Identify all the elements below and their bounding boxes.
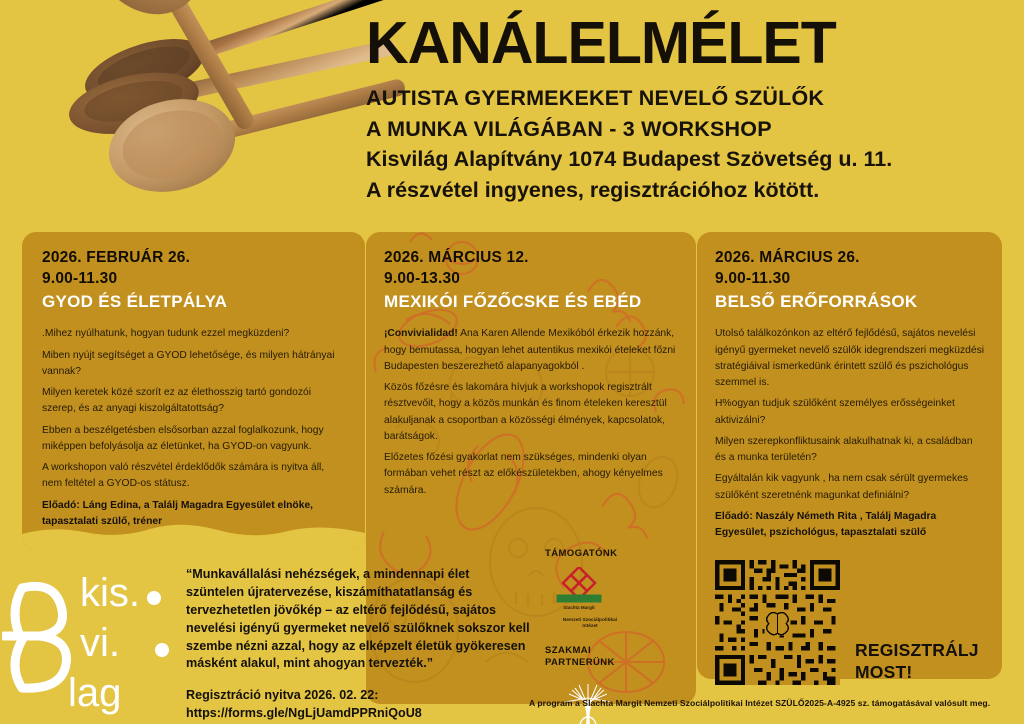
workshop-2-body: ¡Convivialidad! Ana Karen Allende Mexikó… <box>384 326 678 499</box>
participation-note: A részvétel ingyenes, regisztrációhoz kö… <box>366 175 1016 206</box>
workshop-2-paragraph: Közös főzésre és lakomára hívjuk a works… <box>384 380 678 445</box>
registration-url[interactable]: https://forms.gle/NgLjUamdPPRniQoU8 <box>186 705 531 723</box>
logo-line-1: kis. <box>80 571 140 615</box>
logo-line-3: lag <box>68 671 121 715</box>
subtitle-line-2: A MUNKA VILÁGÁBAN - 3 WORKSHOP <box>366 114 1016 145</box>
workshop-3-title: BELSŐ ERŐFORRÁSOK <box>715 291 984 313</box>
workshop-2-date: 2026. MÁRCIUS 12. <box>384 248 678 269</box>
supporter-name-line-1: Slachta Margit <box>563 605 595 610</box>
workshop-card-1: 2026. FEBRUÁR 26. 9.00-11.30 GYOD ÉS ÉLE… <box>22 232 365 550</box>
workshop-2-lead-bold: ¡Convivialidad! <box>384 328 458 339</box>
workshop-3-paragraph: H%ogyan tudjuk szülőként személyes erőss… <box>715 396 984 429</box>
workshop-1-paragraph: .Mihez nyúlhatunk, hogyan tudunk ezzel m… <box>42 326 345 342</box>
workshop-1-paragraph: A workshopon való részvétel érdeklődők s… <box>42 460 345 493</box>
qr-code-icon[interactable] <box>715 560 840 690</box>
workshop-1-date: 2026. FEBRUÁR 26. <box>42 248 345 269</box>
workshop-3-paragraph: Milyen szerepkonfliktusaink alakulhatnak… <box>715 434 984 467</box>
workshop-1-paragraph: Milyen keretek közé szorít ez az élethos… <box>42 385 345 418</box>
workshop-3-paragraph: Egyáltalán kik vagyunk , ha nem csak sér… <box>715 471 984 504</box>
workshop-3-date: 2026. MÁRCIUS 26. <box>715 248 984 269</box>
register-cta-line-1: REGISZTRÁLJ <box>855 640 979 662</box>
workshop-2-paragraph: Előzetes főzési gyakorlat nem szükséges,… <box>384 450 678 499</box>
workshop-3-paragraph: Utolsó találkozónkon az eltérő fejlődésű… <box>715 326 984 391</box>
page-title: KANÁLELMÉLET <box>366 14 1016 73</box>
partner-label-line-2: PARTNERÜNK <box>545 657 685 669</box>
workshop-2-time: 9.00-13.30 <box>384 269 678 290</box>
supporter-label: TÁMOGATÓNK <box>545 548 685 560</box>
wooden-spoons-icon <box>0 0 410 260</box>
workshop-3-time: 9.00-11.30 <box>715 269 984 290</box>
venue-address: Kisvilág Alapítvány 1074 Budapest Szövet… <box>366 144 1016 175</box>
quote-text: “Munkavállalási nehézségek, a mindennapi… <box>186 566 531 673</box>
workshop-2-lead: ¡Convivialidad! Ana Karen Allende Mexikó… <box>384 326 678 375</box>
torn-edge-decoration <box>22 520 365 550</box>
workshop-3-body: Utolsó találkozónkon az eltérő fejlődésű… <box>715 326 984 541</box>
poster-header: KANÁLELMÉLET AUTISTA GYERMEKEKET NEVELŐ … <box>366 14 1016 205</box>
workshop-2-title: MEXIKÓI FŐZŐCSKE ÉS EBÉD <box>384 291 678 313</box>
workshop-1-body: .Mihez nyúlhatunk, hogyan tudunk ezzel m… <box>42 326 345 530</box>
footer-note: A program a Slachta Margit Nemzeti Szoci… <box>529 698 990 708</box>
workshop-1-time: 9.00-11.30 <box>42 269 345 290</box>
workshop-3-speaker: Előadó: Naszály Németh Rita , Találj Mag… <box>715 509 984 542</box>
subtitle-line-1: AUTISTA GYERMEKEKET NEVELŐ SZÜLŐK <box>366 83 1016 114</box>
logo-line-2: vi. <box>80 621 120 665</box>
partner-label-line-1: SZAKMAI <box>545 645 685 657</box>
supporter-name-line-3: Intézet <box>551 624 629 630</box>
quote-block: “Munkavállalási nehézségek, a mindennapi… <box>186 566 531 723</box>
register-cta[interactable]: REGISZTRÁLJ MOST! <box>855 640 979 684</box>
kisvilag-logo: kis. vi. lag <box>2 558 177 718</box>
workshop-1-paragraph: Miben nyújt segítséget a GYOD lehetősége… <box>42 348 345 381</box>
workshop-1-paragraph: Ebben a beszélgetésben elsősorban azzal … <box>42 423 345 456</box>
registration-block: Regisztráció nyitva 2026. 02. 22: https:… <box>186 687 531 723</box>
register-cta-line-2: MOST! <box>855 662 979 684</box>
registration-open-label: Regisztráció nyitva 2026. 02. 22: <box>186 687 531 705</box>
slachta-emblem-icon: Slachta Margit Nemzeti Szociálpolitikai … <box>545 567 685 631</box>
workshop-1-title: GYOD ÉS ÉLETPÁLYA <box>42 291 345 313</box>
poster-root: KANÁLELMÉLET AUTISTA GYERMEKEKET NEVELŐ … <box>0 0 1024 724</box>
